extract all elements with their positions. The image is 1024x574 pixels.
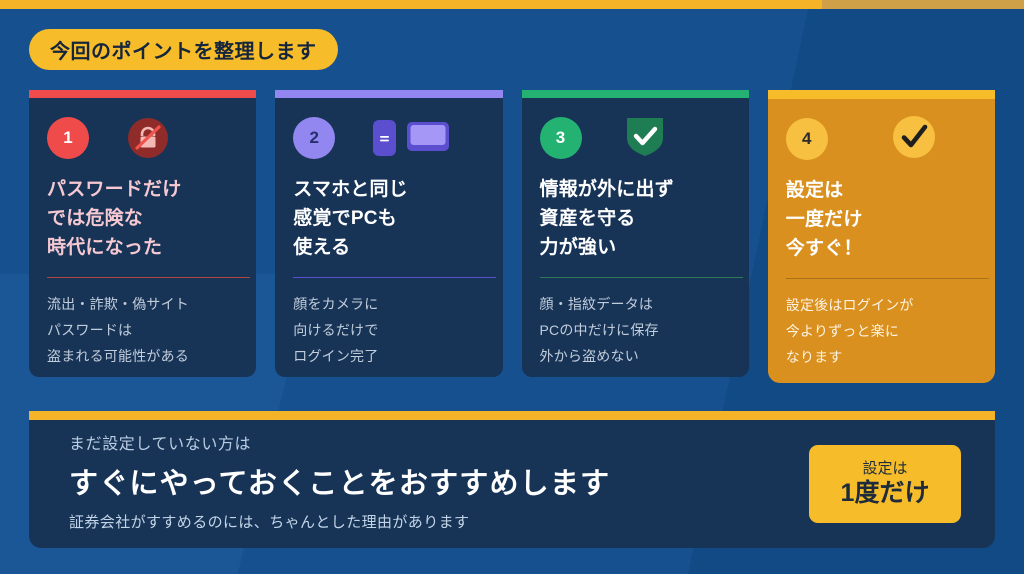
card-2-title: スマホと同じ 感覚でPCも 使える	[293, 176, 484, 263]
card-4-body: 設定後はログインが 今よりずっと楽に なります	[786, 292, 977, 370]
shield-check-icon	[624, 114, 666, 158]
point-card-2: 2	[275, 90, 502, 377]
card-2-body-line-1: 顔をカメラに	[293, 291, 484, 317]
card-3-body-line-2: PCの中だけに保存	[540, 317, 731, 343]
card-1-title-line-2: では危険な	[47, 205, 238, 234]
cta-badge-top-label: 設定は	[862, 459, 907, 479]
header-badge: 今回のポイントを整理します	[29, 29, 338, 70]
card-1-body-line-1: 流出・詐欺・偽サイト	[47, 291, 238, 317]
banner-subline: 証券会社がすすめるのには、ちゃんとした理由があります	[69, 511, 610, 532]
card-1-number-badge: 1	[47, 117, 89, 159]
card-2-divider	[293, 277, 496, 278]
slide-root: 今回のポイントを整理します 1	[0, 0, 1024, 574]
point-card-4: 4 設定は 一度だけ 今すぐ！	[768, 90, 995, 383]
card-4-body-line-2: 今よりずっと楽に	[786, 318, 977, 344]
card-1-icon-slot	[126, 116, 170, 160]
card-1-icon-row: 1	[47, 114, 238, 162]
card-4-title-line-1: 設定は	[786, 177, 977, 206]
header-badge-label: 今回のポイントを整理します	[50, 35, 317, 64]
card-4-topbar	[768, 90, 995, 99]
card-1-number: 1	[63, 128, 72, 148]
top-accent-strip-shaded	[822, 0, 1024, 9]
card-3-number: 3	[556, 128, 565, 148]
banner-kicker: まだ設定していない方は	[69, 430, 610, 454]
card-4-title-line-2: 一度だけ	[786, 206, 977, 235]
card-3-number-badge: 3	[540, 117, 582, 159]
card-1-topbar	[29, 90, 256, 98]
card-3-icon-row: 3	[540, 114, 731, 162]
card-2-body: 顔をカメラに 向けるだけで ログイン完了	[293, 291, 484, 369]
no-password-icon	[126, 116, 170, 160]
card-1-divider	[47, 277, 250, 278]
point-card-1: 1 パスワードだけ	[29, 90, 256, 377]
banner-text-block: まだ設定していない方は すぐにやっておくことをおすすめします 証券会社がすすめる…	[69, 430, 610, 538]
card-1-title-line-3: 時代になった	[47, 234, 238, 263]
card-2-body-line-3: ログイン完了	[293, 343, 484, 369]
card-3-body-line-1: 顔・指紋データは	[540, 291, 731, 317]
card-3-title-line-1: 情報が外に出ず	[540, 176, 731, 205]
card-1-body-line-3: 盗まれる可能性がある	[47, 343, 238, 369]
card-4-number-badge: 4	[786, 118, 828, 160]
card-2-body-line-2: 向けるだけで	[293, 317, 484, 343]
card-4-body-line-1: 設定後はログインが	[786, 292, 977, 318]
card-4-icon-slot	[891, 115, 937, 159]
card-4-divider	[786, 278, 989, 279]
card-2-icon-row: 2	[293, 114, 484, 162]
card-2-title-line-1: スマホと同じ	[293, 176, 484, 205]
card-4-icon-row: 4	[786, 115, 977, 163]
card-3-title-line-2: 資産を守る	[540, 205, 731, 234]
card-3-title-line-3: 力が強い	[540, 234, 731, 263]
card-2-topbar	[275, 90, 502, 98]
card-grid: 1 パスワードだけ	[29, 90, 995, 383]
point-card-3: 3 情報が外に出ず 資産を守る 力が強い	[522, 90, 749, 377]
card-3-body: 顔・指紋データは PCの中だけに保存 外から盗めない	[540, 291, 731, 369]
card-2-number: 2	[310, 128, 319, 148]
card-1-title: パスワードだけ では危険な 時代になった	[47, 176, 238, 263]
check-circle-icon	[891, 114, 937, 160]
card-1-body-line-2: パスワードは	[47, 317, 238, 343]
card-3-icon-slot	[624, 114, 666, 158]
cta-badge-main-label: 1度だけ	[841, 478, 930, 509]
card-3-body-line-3: 外から盗めない	[540, 343, 731, 369]
card-4-body-line-3: なります	[786, 344, 977, 370]
card-2-title-line-3: 使える	[293, 234, 484, 263]
card-3-topbar	[522, 90, 749, 98]
card-2-icon-slot	[372, 116, 450, 160]
card-4-title-line-3: 今すぐ！	[786, 235, 977, 264]
card-1-title-line-1: パスワードだけ	[47, 176, 238, 205]
bottom-banner: まだ設定していない方は すぐにやっておくことをおすすめします 証券会社がすすめる…	[29, 411, 995, 548]
card-2-title-line-2: 感覚でPCも	[293, 205, 484, 234]
cta-badge[interactable]: 設定は 1度だけ	[809, 445, 961, 523]
card-3-title: 情報が外に出ず 資産を守る 力が強い	[540, 176, 731, 263]
banner-topbar	[29, 411, 995, 420]
card-4-title: 設定は 一度だけ 今すぐ！	[786, 177, 977, 264]
card-1-body: 流出・詐欺・偽サイト パスワードは 盗まれる可能性がある	[47, 291, 238, 369]
smartphone-icon	[372, 119, 397, 157]
laptop-icon	[406, 120, 450, 156]
card-3-divider	[540, 277, 743, 278]
card-4-number: 4	[802, 129, 811, 149]
banner-headline: すぐにやっておくことをおすすめします	[69, 460, 610, 502]
card-2-number-badge: 2	[293, 117, 335, 159]
